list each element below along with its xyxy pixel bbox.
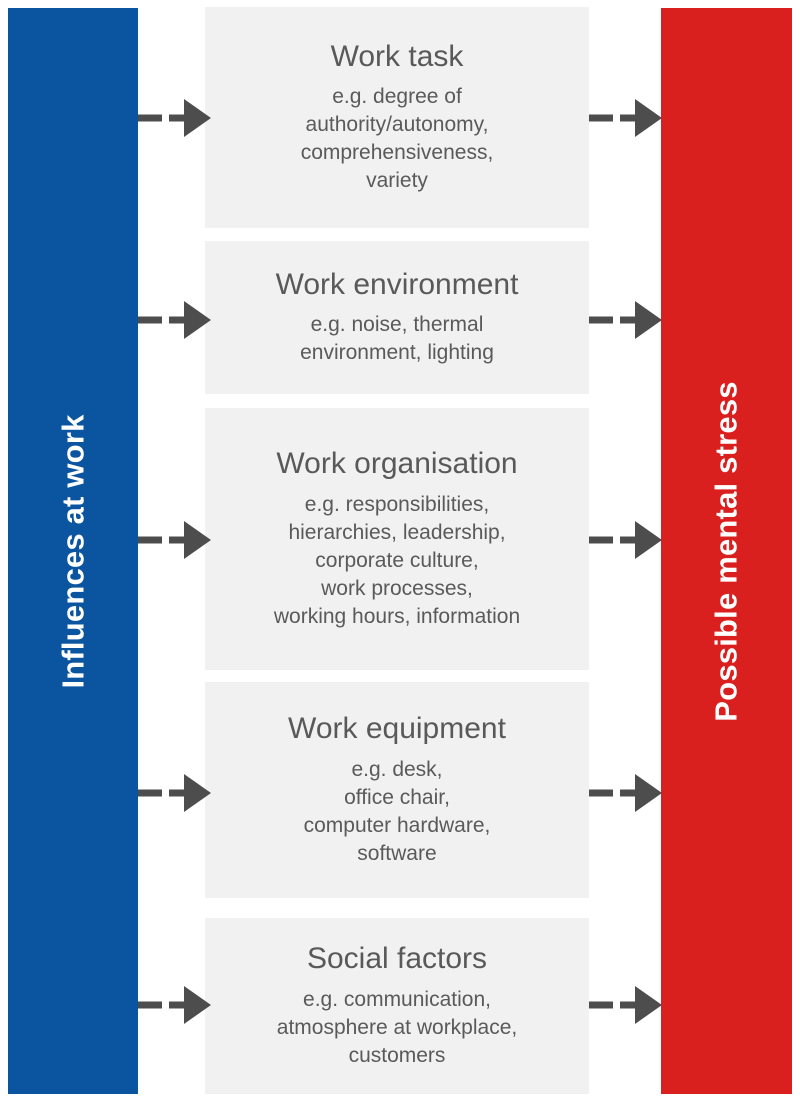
possible-mental-stress-label: Possible mental stress xyxy=(711,381,742,721)
arrow-head xyxy=(635,521,662,559)
arrow-head xyxy=(184,301,211,339)
arrow-dash-segment xyxy=(589,115,613,122)
factor-box-social-factors: Social factors e.g. communication, atmos… xyxy=(205,918,589,1094)
arrow-dash-segment xyxy=(589,1002,613,1009)
factor-title: Social factors xyxy=(307,942,487,976)
factor-description: e.g. degree of authority/autonomy, compr… xyxy=(301,83,494,195)
arrow-head xyxy=(635,774,662,812)
arrow-head xyxy=(635,301,662,339)
factor-description: e.g. desk, office chair, computer hardwa… xyxy=(304,756,491,868)
arrow-head xyxy=(635,99,662,137)
arrow-dash-segment xyxy=(138,1002,162,1009)
diagram-canvas: Influences at work Possible mental stres… xyxy=(0,0,800,1102)
factor-box-work-organisation: Work organisation e.g. responsibilities,… xyxy=(205,408,589,670)
arrow-right-icon-in-5 xyxy=(138,985,210,1025)
arrow-dash-segment xyxy=(138,317,162,324)
factor-description: e.g. responsibilities, hierarchies, lead… xyxy=(274,491,520,631)
factor-box-work-equipment: Work equipment e.g. desk, office chair, … xyxy=(205,682,589,898)
arrow-head xyxy=(184,521,211,559)
arrow-head xyxy=(184,774,211,812)
arrow-dash-segment xyxy=(589,537,613,544)
arrow-head xyxy=(635,986,662,1024)
arrow-right-icon-out-5 xyxy=(589,985,661,1025)
arrow-right-icon-out-3 xyxy=(589,520,661,560)
arrow-right-icon-out-4 xyxy=(589,773,661,813)
factor-title: Work organisation xyxy=(276,447,517,481)
arrow-right-icon-in-2 xyxy=(138,300,210,340)
arrow-dash-segment xyxy=(589,317,613,324)
arrow-right-icon-out-1 xyxy=(589,98,661,138)
arrow-dash-segment xyxy=(138,537,162,544)
arrow-right-icon-in-3 xyxy=(138,520,210,560)
factor-title: Work environment xyxy=(276,268,519,302)
arrow-right-icon-out-2 xyxy=(589,300,661,340)
factor-box-work-task: Work task e.g. degree of authority/auton… xyxy=(205,7,589,228)
arrow-right-icon-in-1 xyxy=(138,98,210,138)
factor-description: e.g. noise, thermal environment, lightin… xyxy=(300,311,494,367)
factor-box-work-environment: Work environment e.g. noise, thermal env… xyxy=(205,241,589,394)
influences-at-work-label: Influences at work xyxy=(58,414,89,688)
arrow-right-icon-in-4 xyxy=(138,773,210,813)
arrow-dash-segment xyxy=(138,790,162,797)
factor-description: e.g. communication, atmosphere at workpl… xyxy=(277,986,517,1070)
possible-mental-stress-bar: Possible mental stress xyxy=(661,8,792,1094)
arrow-head xyxy=(184,986,211,1024)
arrow-dash-segment xyxy=(589,790,613,797)
arrow-dash-segment xyxy=(138,115,162,122)
influences-at-work-bar: Influences at work xyxy=(8,8,138,1094)
factor-title: Work task xyxy=(331,40,464,74)
factor-title: Work equipment xyxy=(288,712,506,746)
arrow-head xyxy=(184,99,211,137)
